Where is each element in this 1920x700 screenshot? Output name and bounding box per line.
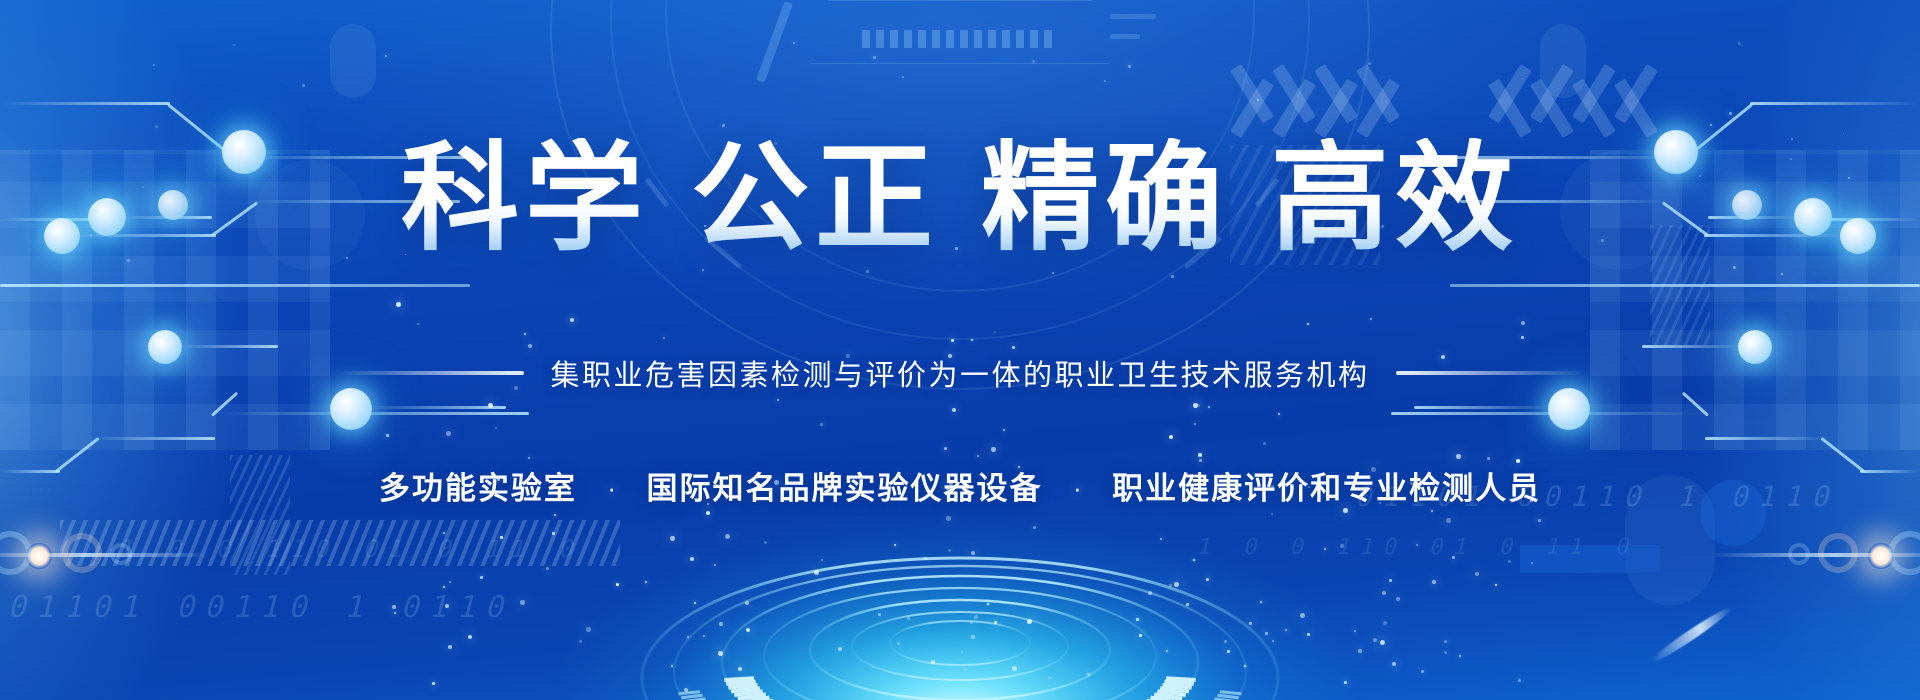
- headline-word-1: 科学: [401, 133, 649, 265]
- tagline-3: 职业健康评价和专业检测人员: [1112, 471, 1541, 506]
- promo-banner: 01101 00110 1 0110 1 0 0 110 01 0 11 0 0…: [0, 0, 1920, 700]
- tagline-separator-icon: ·: [1073, 473, 1082, 504]
- banner-content: 科学公正精确高效 集职业危害因素检测与评价为一体的职业卫生技术服务机构 多功能实…: [0, 0, 1920, 700]
- subtitle-row: 集职业危害因素检测与评价为一体的职业卫生技术服务机构: [0, 352, 1920, 394]
- headline-word-4: 高效: [1271, 133, 1519, 265]
- page-title: 科学公正精确高效: [0, 138, 1920, 262]
- tagline-1: 多功能实验室: [379, 471, 577, 506]
- subtitle-rule-left: [336, 371, 524, 375]
- tagline-row: 多功能实验室 · 国际知名品牌实验仪器设备 · 职业健康评价和专业检测人员: [0, 463, 1920, 508]
- tagline-2: 国际知名品牌实验仪器设备: [647, 471, 1043, 506]
- headline-word-2: 公正: [691, 133, 939, 265]
- subtitle-rule-right: [1396, 371, 1584, 375]
- headline-word-3: 精确: [981, 133, 1229, 265]
- tagline-separator-icon: ·: [607, 473, 616, 504]
- subtitle: 集职业危害因素检测与评价为一体的职业卫生技术服务机构: [550, 352, 1369, 394]
